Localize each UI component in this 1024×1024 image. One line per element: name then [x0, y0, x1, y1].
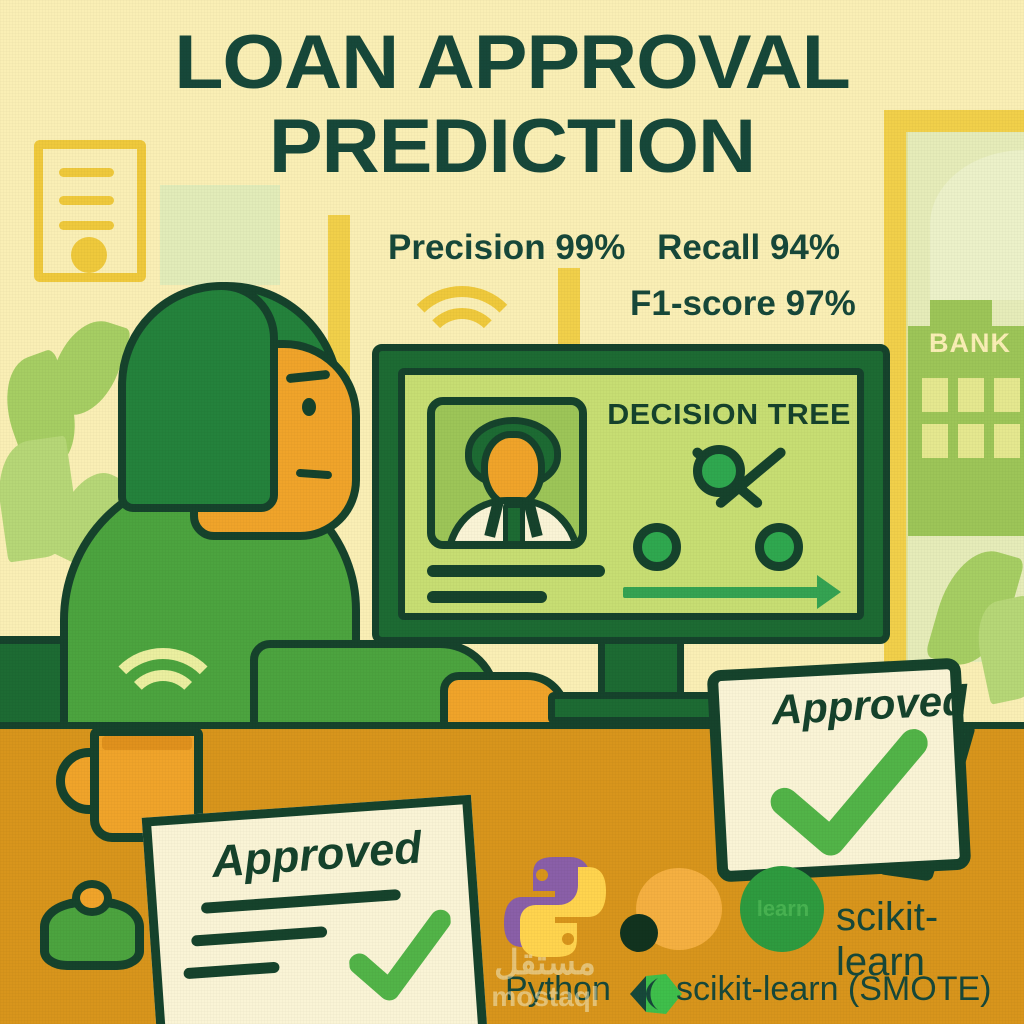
sklearn-blob-text: learn	[748, 896, 818, 922]
page-title-line-2: PREDICTION	[0, 112, 1024, 182]
approved-document-line	[191, 926, 327, 946]
flow-arrow-shaft	[623, 587, 819, 598]
money-bag-knot	[72, 880, 112, 916]
approved-document[interactable]: Approved	[142, 795, 489, 1024]
monitor-screen: DECISION TREE	[398, 368, 864, 620]
bank-window	[958, 378, 984, 412]
decision-tree-label: DECISION TREE	[607, 399, 851, 432]
person-eye-icon	[302, 398, 316, 416]
avatar-tie	[503, 503, 525, 549]
applicant-portrait-card	[427, 397, 587, 549]
approved-document-label: Approved	[210, 821, 423, 888]
approved-card[interactable]: Approved	[707, 657, 972, 882]
screen-text-line-1	[427, 565, 605, 577]
precision-label: Precision	[388, 228, 546, 267]
approved-card-check-icon	[767, 728, 933, 862]
python-label: Python	[505, 970, 611, 1009]
python-logo-icon	[500, 853, 610, 966]
bank-window	[994, 378, 1020, 412]
bank-window	[922, 424, 948, 458]
approved-document-check-icon	[346, 906, 456, 1005]
f1-value: 97%	[786, 284, 856, 323]
approved-document-line	[183, 962, 280, 980]
certificate-icon-line-2	[59, 196, 114, 205]
tree-node-root	[693, 445, 745, 497]
tree-node-left-child	[633, 523, 681, 571]
metrics-row-2: F1-score 97%	[630, 284, 856, 324]
wall-panel-left	[160, 185, 280, 285]
page-title-line-1: LOAN APPROVAL	[0, 28, 1024, 98]
bank-window	[994, 424, 1020, 458]
bank-window	[922, 378, 948, 412]
certificate-seal-icon	[71, 237, 107, 273]
screen-text-line-2	[427, 591, 547, 603]
f1-label: F1-score	[630, 284, 776, 323]
metrics-row-1: Precision 99% Recall 94%	[388, 228, 840, 268]
certificate-icon-line-3	[59, 221, 114, 230]
approved-card-label: Approved	[771, 676, 969, 734]
tree-node-right-child	[755, 523, 803, 571]
bank-sign-label: BANK	[920, 328, 1020, 359]
flow-arrow-head-icon	[817, 575, 841, 609]
poster-canvas: BANK LOAN APPROVAL PREDICTION Precision …	[0, 0, 1024, 1024]
precision-value: 99%	[555, 228, 625, 267]
recall-value: 94%	[770, 228, 840, 267]
bank-window	[958, 424, 984, 458]
mug-rim	[102, 736, 192, 750]
dark-dot-icon	[620, 914, 658, 952]
recall-label: Recall	[657, 228, 760, 267]
sklearn-smote-label: scikit-learn (SMOTE)	[676, 970, 991, 1009]
